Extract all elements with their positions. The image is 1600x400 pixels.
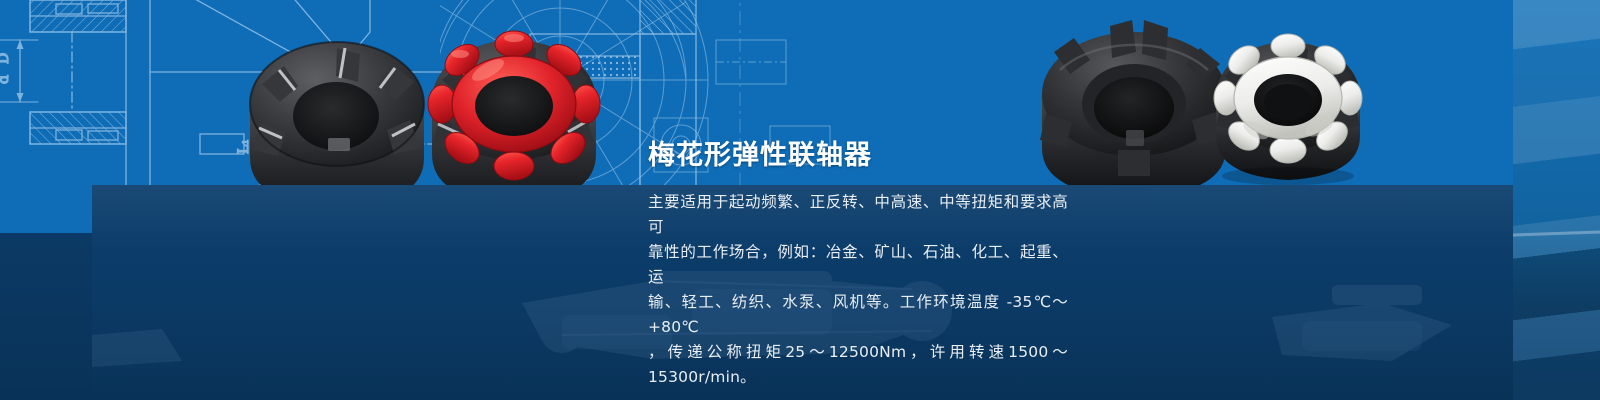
product-description: 主要适用于起动频繁、正反转、中高速、中等扭矩和要求高可 靠性的工作场合，例如：冶…	[648, 190, 1068, 390]
description-line-1: 主要适用于起动频繁、正反转、中高速、中等扭矩和要求高可	[648, 190, 1068, 240]
description-line-4: ，传递公称扭矩25～12500Nm，许用转速1500～15300r/min。	[648, 340, 1068, 390]
banner-text-column: 梅花形弹性联轴器 主要适用于起动频繁、正反转、中高速、中等扭矩和要求高可 靠性的…	[648, 136, 1068, 390]
machinery-photo-right	[1513, 0, 1600, 400]
product-banner: d D D₁	[0, 0, 1600, 400]
description-band-left-extension	[0, 233, 92, 400]
description-line-3: 输、轻工、纺织、水泵、风机等。工作环境温度 -35℃～+80℃	[648, 290, 1068, 340]
page-title: 梅花形弹性联轴器	[648, 136, 1068, 176]
svg-text:d: d	[0, 75, 12, 84]
description-line-2: 靠性的工作场合，例如：冶金、矿山、石油、化工、起重、运	[648, 240, 1068, 290]
product-photo-right	[1032, 8, 1372, 198]
svg-text:D: D	[0, 53, 12, 64]
